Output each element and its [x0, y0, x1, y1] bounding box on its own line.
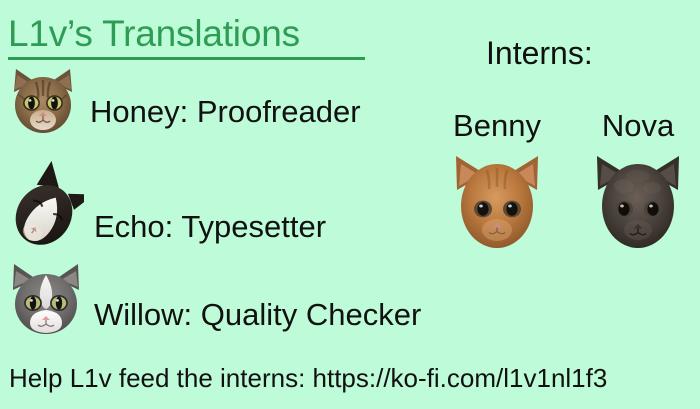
page-title: L1v’s Translations	[8, 12, 378, 56]
echo-cat-photo	[4, 160, 84, 260]
willow-cat-photo	[4, 258, 88, 342]
staff-label: Echo: Typesetter	[94, 209, 326, 245]
staff-label: Honey: Proofreader	[90, 94, 361, 130]
intern-name: Benny	[437, 108, 557, 144]
donation-link-text[interactable]: Help L1v feed the interns: https://ko-fi…	[9, 363, 607, 394]
intern-block: Nova	[578, 108, 698, 258]
honey-cat-photo	[4, 62, 82, 140]
intern-block: Benny	[437, 108, 557, 258]
page-title-underline	[8, 57, 365, 60]
staff-label: Willow: Quality Checker	[94, 297, 421, 333]
page-title-block: L1v’s Translations	[8, 12, 378, 60]
staff-row: Willow: Quality Checker	[4, 258, 421, 342]
staff-row: Honey: Proofreader	[4, 62, 361, 140]
interns-heading: Interns:	[486, 34, 593, 72]
staff-row: Echo: Typesetter	[4, 160, 326, 260]
intern-name: Nova	[578, 108, 698, 144]
translation-credits-card: L1v’s Translations Interns:	[0, 0, 700, 409]
nova-cat-photo	[578, 146, 698, 258]
benny-cat-photo	[437, 146, 557, 258]
